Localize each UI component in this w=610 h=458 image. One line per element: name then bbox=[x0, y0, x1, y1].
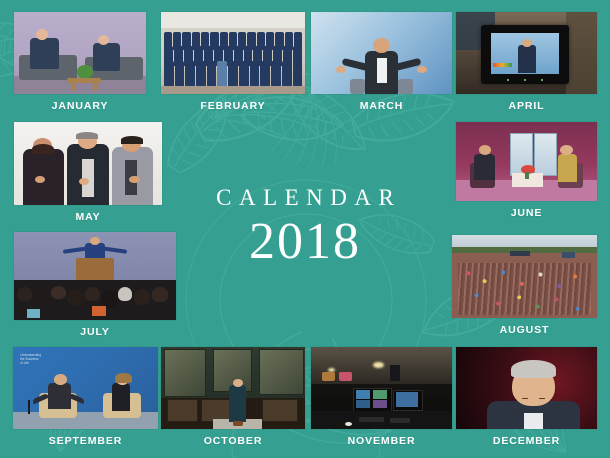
month-label-may: MAY bbox=[75, 212, 100, 223]
photo-august bbox=[452, 235, 597, 318]
month-tile-august[interactable]: AUGUST bbox=[452, 235, 597, 336]
month-label-april: APRIL bbox=[509, 101, 545, 112]
month-tile-june[interactable]: JUNE bbox=[456, 122, 597, 219]
photo-april bbox=[456, 12, 597, 94]
photo-september: Understanding the Business of Life bbox=[13, 347, 158, 429]
calendar-year: 2018 bbox=[170, 215, 440, 270]
photo-march bbox=[311, 12, 452, 94]
photo-november bbox=[311, 347, 452, 429]
month-label-august: AUGUST bbox=[500, 325, 550, 336]
september-screen-text: Understanding the Business of Life bbox=[20, 353, 41, 366]
month-tile-september[interactable]: Understanding the Business of Life SEPTE… bbox=[13, 347, 158, 447]
month-label-november: NOVEMBER bbox=[348, 436, 416, 447]
month-label-june: JUNE bbox=[511, 208, 543, 219]
month-label-january: JANUARY bbox=[52, 101, 109, 112]
page-title: CALENDAR bbox=[170, 186, 440, 209]
month-label-december: DECEMBER bbox=[493, 436, 560, 447]
photo-february bbox=[161, 12, 305, 94]
screen-text-line-3: of Life bbox=[20, 361, 41, 365]
month-label-july: JULY bbox=[80, 327, 109, 338]
month-tile-january[interactable]: JANUARY bbox=[14, 12, 146, 112]
photo-october bbox=[161, 347, 305, 429]
month-tile-july[interactable]: JULY bbox=[14, 232, 176, 338]
month-tile-december[interactable]: DECEMBER bbox=[456, 347, 597, 447]
month-label-september: SEPTEMBER bbox=[49, 436, 122, 447]
calendar-title-block: CALENDAR 2018 bbox=[170, 186, 440, 270]
month-label-february: FEBRUARY bbox=[200, 101, 265, 112]
month-tile-november[interactable]: NOVEMBER bbox=[311, 347, 452, 447]
month-tile-february[interactable]: FEBRUARY bbox=[161, 12, 305, 112]
photo-july bbox=[14, 232, 176, 320]
month-label-october: OCTOBER bbox=[204, 436, 263, 447]
month-tile-march[interactable]: MARCH bbox=[311, 12, 452, 112]
month-tile-april[interactable]: APRIL bbox=[456, 12, 597, 112]
month-tile-october[interactable]: OCTOBER bbox=[161, 347, 305, 447]
photo-january bbox=[14, 12, 146, 94]
month-label-march: MARCH bbox=[360, 101, 404, 112]
photo-may bbox=[14, 122, 162, 205]
photo-june bbox=[456, 122, 597, 201]
month-tile-may[interactable]: MAY bbox=[14, 122, 162, 223]
calendar-poster: JANUARY bbox=[0, 0, 610, 458]
photo-december bbox=[456, 347, 597, 429]
